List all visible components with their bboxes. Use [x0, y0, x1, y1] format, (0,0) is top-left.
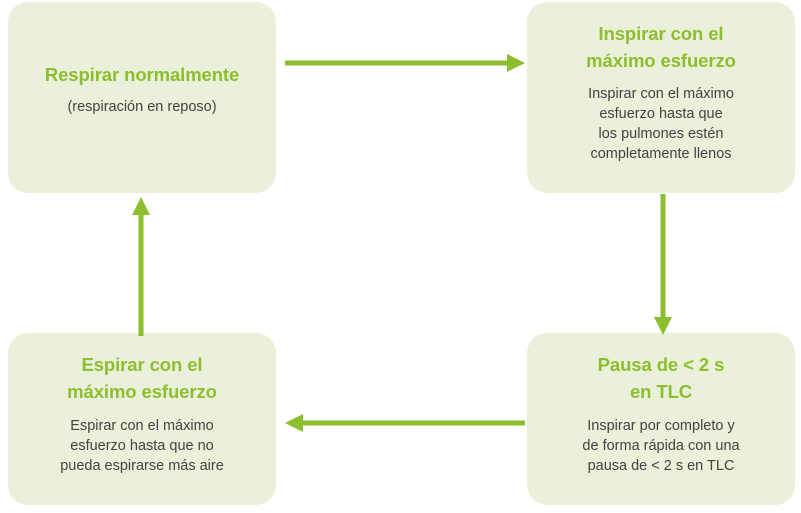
node-title: Inspirar con el máximo esfuerzo — [586, 20, 736, 74]
node-title: Respirar normalmente — [45, 61, 239, 88]
arrow-right-icon — [285, 50, 525, 76]
arrow-left-icon — [283, 410, 525, 436]
arrow-down-icon — [650, 194, 676, 335]
node-body: (respiración en reposo) — [67, 97, 216, 117]
flowchart-canvas: Respirar normalmente (respiración en rep… — [0, 0, 801, 513]
node-pausa-tlc[interactable]: Pausa de < 2 s en TLC Inspirar por compl… — [527, 333, 795, 505]
node-title: Espirar con el máximo esfuerzo — [67, 351, 217, 405]
node-inspirar-maximo-esfuerzo[interactable]: Inspirar con el máximo esfuerzo Inspirar… — [527, 2, 795, 193]
arrow-up-icon — [128, 196, 154, 336]
node-body: Inspirar con el máximo esfuerzo hasta qu… — [588, 84, 734, 164]
node-espirar-maximo-esfuerzo[interactable]: Espirar con el máximo esfuerzo Espirar c… — [8, 333, 276, 505]
node-body: Espirar con el máximo esfuerzo hasta que… — [60, 416, 224, 476]
node-body: Inspirar por completo y de forma rápida … — [582, 416, 739, 476]
node-title: Pausa de < 2 s en TLC — [598, 351, 725, 405]
node-respirar-normalmente[interactable]: Respirar normalmente (respiración en rep… — [8, 2, 276, 193]
